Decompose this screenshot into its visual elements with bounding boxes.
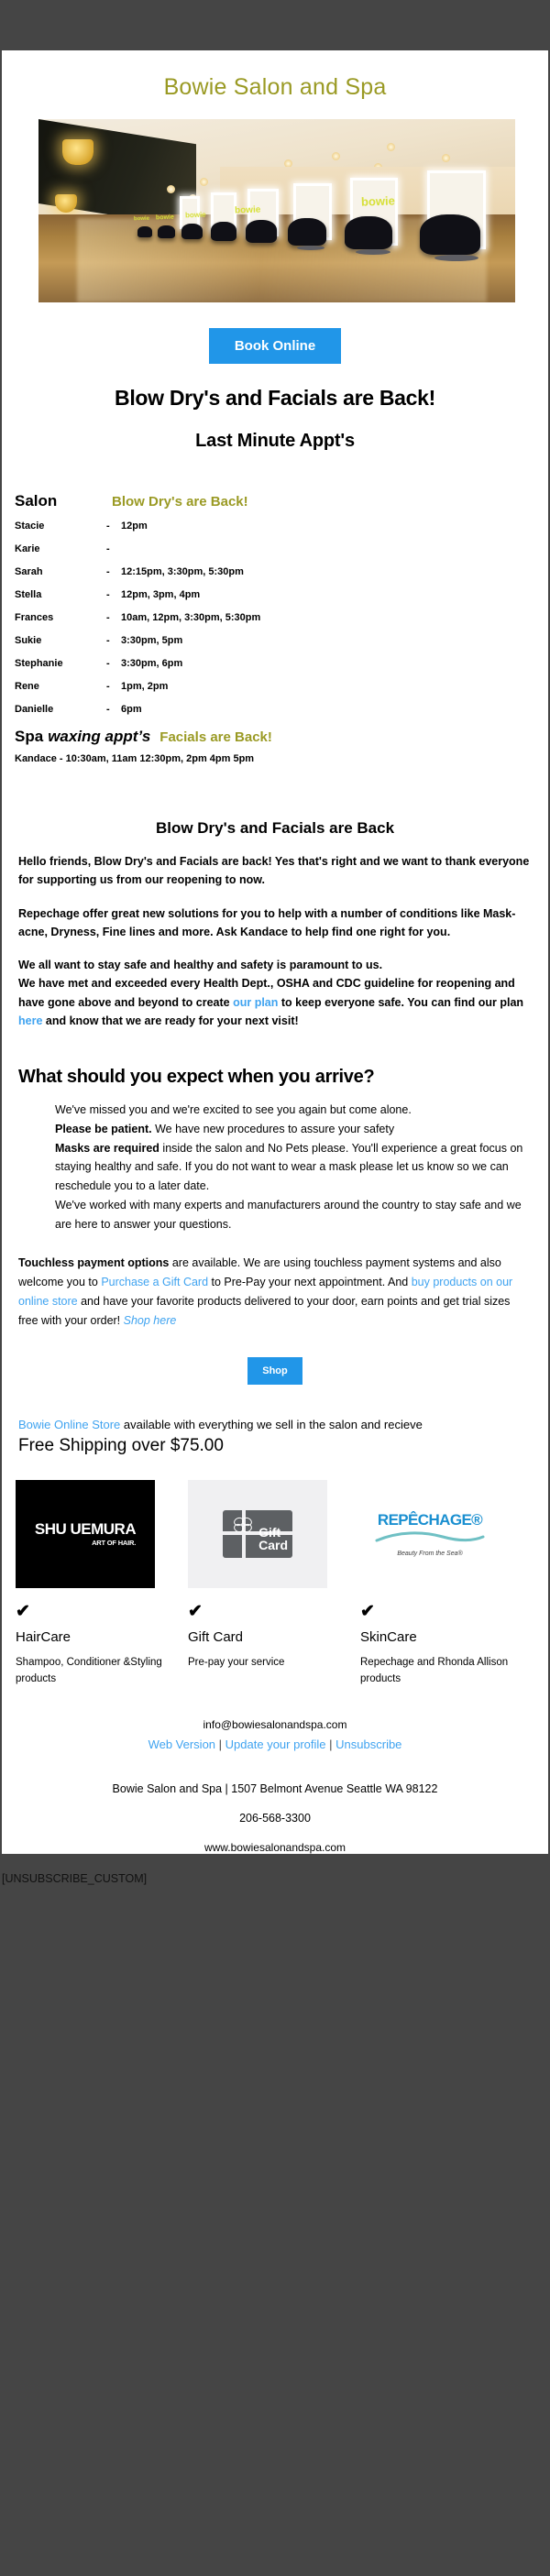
mirror-bowie-logo: bowie xyxy=(185,211,206,220)
shu-uemura-wordmark: SHU UEMURA xyxy=(35,1521,136,1537)
column-description: Repechage and Rhonda Allison products xyxy=(360,1655,516,1687)
chair-base xyxy=(356,249,390,255)
expect-line-4: We've worked with many experts and manuf… xyxy=(55,1199,522,1231)
repechage-logo[interactable]: REPÊCHAGE® Beauty From the Sea® xyxy=(360,1480,500,1588)
column-title: HairCare xyxy=(16,1629,171,1645)
downlight-icon xyxy=(332,152,340,160)
headline-main: Blow Dry's and Facials are Back! xyxy=(2,386,548,411)
shop-button[interactable]: Shop xyxy=(247,1357,302,1385)
table-row: Sarah - 12:15pm, 3:30pm, 5:30pm xyxy=(15,566,548,577)
stylist-name: Danielle xyxy=(15,704,106,715)
salon-chair xyxy=(158,225,175,238)
check-icon: ✔ xyxy=(188,1603,344,1620)
hero-image-wrap: bowie bowie bowie bowie bowie xyxy=(2,119,548,302)
salon-chair xyxy=(211,222,236,241)
expect-line-1: We've missed you and we're excited to se… xyxy=(55,1103,412,1116)
salon-chair xyxy=(288,218,326,246)
stylist-name: Karie xyxy=(15,543,106,554)
product-columns: SHU UEMURA ART OF HAIR. ✔ HairCare Shamp… xyxy=(2,1456,548,1687)
row-dash: - xyxy=(106,704,121,715)
stylist-name: Sukie xyxy=(15,635,106,646)
downlight-icon xyxy=(200,178,208,186)
expect-line-2: We have new procedures to assure your sa… xyxy=(152,1123,395,1135)
shu-uemura-tagline: ART OF HAIR. xyxy=(35,1539,136,1547)
update-profile-link[interactable]: Update your profile xyxy=(225,1737,326,1751)
expect-block: We've missed you and we're excited to se… xyxy=(18,1101,532,1233)
card-word: Card xyxy=(258,1540,288,1552)
table-row: Frances - 10am, 12pm, 3:30pm, 5:30pm xyxy=(15,612,548,623)
shu-uemura-logo[interactable]: SHU UEMURA ART OF HAIR. xyxy=(16,1480,155,1588)
downlight-icon xyxy=(167,185,175,193)
product-column-skincare: REPÊCHAGE® Beauty From the Sea® ✔ SkinCa… xyxy=(360,1480,516,1687)
spa-label: Spa xyxy=(15,728,43,746)
touchless-paragraph: Touchless payment options are available.… xyxy=(18,1254,532,1330)
schedule-header: Salon Blow Dry's are Back! xyxy=(15,492,548,510)
chair-base xyxy=(434,255,478,261)
link-separator: | xyxy=(329,1737,332,1751)
stylist-name: Stephanie xyxy=(15,658,106,669)
stylist-name: Rene xyxy=(15,681,106,692)
shop-here-link[interactable]: Shop here xyxy=(124,1314,177,1327)
row-dash: - xyxy=(106,635,121,646)
table-row: Stephanie - 3:30pm, 6pm xyxy=(15,658,548,669)
online-store-text: available with everything we sell in the… xyxy=(120,1418,423,1431)
safety-line-3: to keep everyone safe. You can find our … xyxy=(278,996,523,1009)
expect-paragraph: We've missed you and we're excited to se… xyxy=(55,1101,532,1233)
top-dark-band xyxy=(0,0,550,50)
please-be-patient-bold: Please be patient. xyxy=(55,1123,152,1135)
schedule-promo-label: Blow Dry's are Back! xyxy=(112,494,248,510)
row-dash: - xyxy=(106,681,121,692)
stylist-times: 3:30pm, 5pm xyxy=(121,635,182,646)
spa-label-italic: waxing appt’s xyxy=(48,728,150,746)
stylist-name: Stella xyxy=(15,589,106,600)
email-page: Bowie Salon and Spa xyxy=(0,0,550,1922)
email-footer: info@bowiesalonandspa.com Web Version | … xyxy=(2,1687,548,1854)
spa-section-header: Spa waxing appt’s Facials are Back! xyxy=(15,728,548,746)
book-online-button[interactable]: Book Online xyxy=(209,328,341,364)
stylist-times: 12:15pm, 3:30pm, 5:30pm xyxy=(121,566,244,577)
product-column-haircare: SHU UEMURA ART OF HAIR. ✔ HairCare Shamp… xyxy=(16,1480,171,1687)
product-column-giftcard: Gift Card ✔ Gift Card Pre-pay your servi… xyxy=(188,1480,344,1687)
repechage-wordmark: REPÊCHAGE® xyxy=(375,1511,485,1529)
row-dash: - xyxy=(106,521,121,532)
purchase-gift-card-link[interactable]: Purchase a Gift Card xyxy=(101,1276,208,1288)
business-phone: 206-568-3300 xyxy=(2,1812,548,1825)
stylist-times: 1pm, 2pm xyxy=(121,681,168,692)
check-icon: ✔ xyxy=(16,1603,171,1620)
downlight-icon xyxy=(442,154,450,162)
stylist-times: 6pm xyxy=(121,704,142,715)
chandelier-icon xyxy=(62,139,93,165)
column-description: Shampoo, Conditioner &Styling products xyxy=(16,1655,171,1687)
wave-icon xyxy=(375,1530,485,1545)
table-row: Karie - xyxy=(15,543,548,554)
salon-chair xyxy=(137,226,152,237)
here-link[interactable]: here xyxy=(18,1014,42,1027)
schedule-section-label: Salon xyxy=(15,492,112,510)
mirror-bowie-logo: bowie xyxy=(235,205,261,216)
mirror-bowie-logo: bowie xyxy=(361,193,395,208)
table-row: Sukie - 3:30pm, 5pm xyxy=(15,635,548,646)
row-dash: - xyxy=(106,612,121,623)
stylist-name: Stacie xyxy=(15,521,106,532)
email-body-sheet: Bowie Salon and Spa xyxy=(0,50,550,1854)
gift-card-image[interactable]: Gift Card xyxy=(188,1480,327,1588)
unsubscribe-token-band: [UNSUBSCRIBE_CUSTOM] xyxy=(0,1867,550,1922)
touchless-text-3: and have your favorite products delivere… xyxy=(18,1295,510,1327)
bow-icon xyxy=(234,1518,254,1532)
row-dash: - xyxy=(106,543,121,554)
stylist-times: 12pm xyxy=(121,521,148,532)
our-plan-link[interactable]: our plan xyxy=(233,996,278,1009)
spa-promo-label: Facials are Back! xyxy=(159,729,272,745)
article-paragraph-3: We all want to stay safe and healthy and… xyxy=(18,956,532,1030)
column-description: Pre-pay your service xyxy=(188,1655,344,1671)
link-separator: | xyxy=(219,1737,222,1751)
free-shipping-text: Free Shipping over $75.00 xyxy=(2,1436,548,1456)
stylist-times: 12pm, 3pm, 4pm xyxy=(121,589,200,600)
business-address: Bowie Salon and Spa | 1507 Belmont Avenu… xyxy=(2,1782,548,1795)
gift-card-text: Gift Card xyxy=(258,1527,288,1551)
table-row: Rene - 1pm, 2pm xyxy=(15,681,548,692)
salon-chair xyxy=(420,214,480,255)
chair-base xyxy=(297,246,324,250)
appointment-schedule: Salon Blow Dry's are Back! Stacie - 12pm… xyxy=(2,452,548,764)
table-row: Stella - 12pm, 3pm, 4pm xyxy=(15,589,548,600)
online-store-line: Bowie Online Store available with everyt… xyxy=(2,1418,548,1431)
web-version-link[interactable]: Web Version xyxy=(148,1737,215,1751)
spa-table-row: Kandace - 10:30am, 11am 12:30pm, 2pm 4pm… xyxy=(15,753,548,764)
check-icon: ✔ xyxy=(360,1603,516,1620)
mirror-bowie-logo: bowie xyxy=(156,214,174,222)
unsubscribe-link[interactable]: Unsubscribe xyxy=(335,1737,401,1751)
row-dash: - xyxy=(106,566,121,577)
touchless-text-2: to Pre-Pay your next appointment. And xyxy=(208,1276,412,1288)
bowie-online-store-link[interactable]: Bowie Online Store xyxy=(18,1418,120,1431)
touchless-bold: Touchless payment options xyxy=(18,1256,169,1269)
gift-card-graphic: Gift Card xyxy=(223,1510,292,1558)
salon-chair xyxy=(181,224,203,239)
column-title: Gift Card xyxy=(188,1629,344,1645)
table-row: Danielle - 6pm xyxy=(15,704,548,715)
article-title: Blow Dry's and Facials are Back xyxy=(18,819,532,838)
table-row: Stacie - 12pm xyxy=(15,521,548,532)
masks-required-bold: Masks are required xyxy=(55,1142,159,1155)
article-paragraph-1: Hello friends, Blow Dry's and Facials ar… xyxy=(18,852,532,890)
book-online-row: Book Online xyxy=(2,302,548,369)
repechage-tagline: Beauty From the Sea® xyxy=(375,1551,485,1557)
headline-sub: Last Minute Appt's xyxy=(2,431,548,452)
stylist-name: Frances xyxy=(15,612,106,623)
safety-line-1: We all want to stay safe and healthy and… xyxy=(18,959,382,971)
contact-email: info@bowiesalonandspa.com xyxy=(2,1718,548,1731)
shop-button-row: Shop xyxy=(2,1330,548,1394)
page-title: Bowie Salon and Spa xyxy=(2,50,548,119)
stylist-times: 3:30pm, 6pm xyxy=(121,658,182,669)
footer-links: Web Version | Update your profile | Unsu… xyxy=(2,1737,548,1751)
stylist-times: 10am, 12pm, 3:30pm, 5:30pm xyxy=(121,612,260,623)
row-dash: - xyxy=(106,589,121,600)
safety-line-4: and know that we are ready for your next… xyxy=(42,1014,298,1027)
expect-heading: What should you expect when you arrive? xyxy=(18,1067,532,1088)
row-dash: - xyxy=(106,658,121,669)
mirror-bowie-logo: bowie xyxy=(134,216,149,223)
column-title: SkinCare xyxy=(360,1629,516,1645)
stylist-name: Sarah xyxy=(15,566,106,577)
salon-chair xyxy=(345,216,392,249)
article-body: Blow Dry's and Facials are Back Hello fr… xyxy=(2,819,548,1330)
article-paragraph-2: Repechage offer great new solutions for … xyxy=(18,904,532,942)
salon-chair xyxy=(246,220,277,243)
salon-interior-photo: bowie bowie bowie bowie bowie xyxy=(38,119,515,302)
downlight-icon xyxy=(387,143,395,151)
business-website: www.bowiesalonandspa.com xyxy=(2,1841,548,1854)
